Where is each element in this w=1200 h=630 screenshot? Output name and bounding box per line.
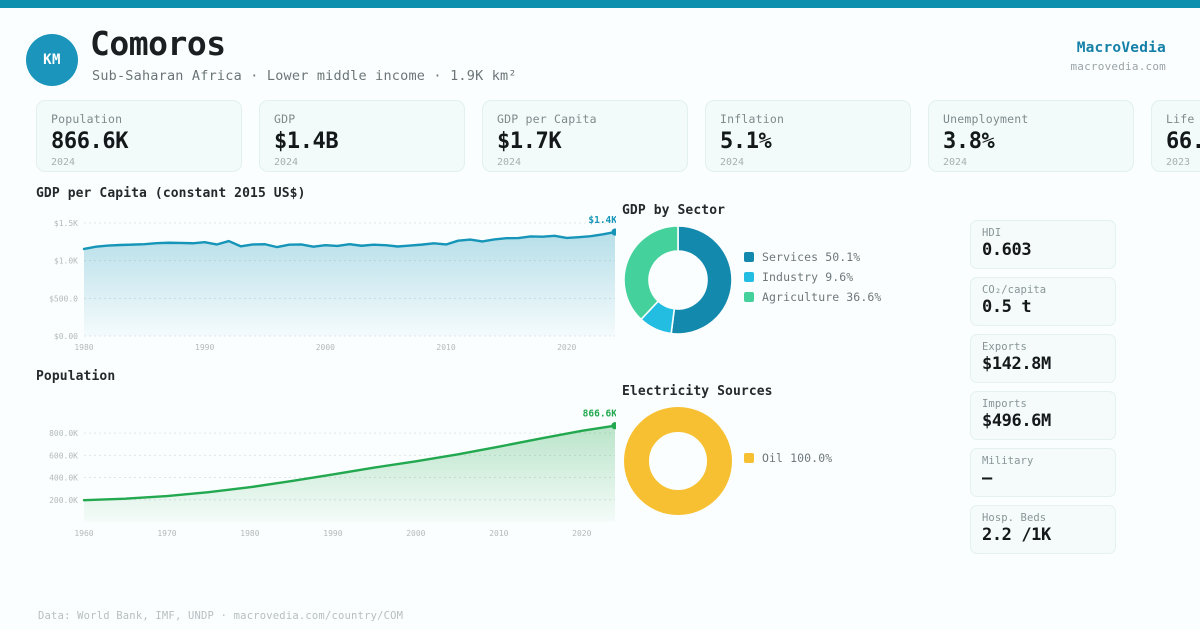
kpi-value: 5.1%: [720, 129, 896, 154]
brand[interactable]: MacroVedia macrovedia.com: [1070, 40, 1166, 73]
kpi-year: 2024: [720, 157, 896, 168]
population-chart-svg: 800.0K600.0K400.0K200.0K866.6K1960197019…: [36, 384, 616, 544]
population-chart-title: Population: [36, 369, 616, 384]
rail-card[interactable]: HDI0.603: [970, 220, 1116, 269]
rail-card[interactable]: Military—: [970, 448, 1116, 497]
svg-text:2010: 2010: [489, 529, 508, 538]
svg-text:1960: 1960: [74, 529, 93, 538]
rail-card[interactable]: Hosp. Beds2.2 /1K: [970, 505, 1116, 554]
kpi-label: GDP per Capita: [497, 112, 673, 126]
svg-text:$1.4K: $1.4K: [588, 215, 616, 226]
kpi-label: Life Expectancy: [1166, 112, 1200, 126]
legend-item[interactable]: Services 50.1%: [744, 250, 881, 264]
rail-label: Exports: [982, 341, 1104, 353]
rail-value: 0.5 t: [982, 297, 1104, 317]
population-chart: Population 800.0K600.0K400.0K200.0K866.6…: [36, 369, 616, 547]
rail-label: Military: [982, 455, 1104, 467]
kpi-year: 2024: [51, 157, 227, 168]
legend-swatch: [744, 453, 754, 463]
kpi-card[interactable]: GDP per Capita$1.7K2024: [482, 100, 688, 172]
brand-url: macrovedia.com: [1070, 60, 1166, 73]
svg-text:2000: 2000: [406, 529, 425, 538]
svg-text:2010: 2010: [436, 343, 455, 352]
sector-donut-svg: [622, 224, 734, 336]
indicator-rail: HDI0.603CO₂/capita0.5 tExports$142.8MImp…: [970, 220, 1116, 554]
svg-text:200.0K: 200.0K: [49, 496, 78, 505]
footer-source: Data: World Bank, IMF, UNDP · macrovedia…: [38, 610, 403, 622]
rail-card[interactable]: CO₂/capita0.5 t: [970, 277, 1116, 326]
legend-label: Services 50.1%: [762, 250, 860, 264]
kpi-year: 2024: [497, 157, 673, 168]
gdp-chart-title: GDP per Capita (constant 2015 US$): [36, 186, 616, 201]
legend-item[interactable]: Agriculture 36.6%: [744, 290, 881, 304]
electricity-donut-svg: [622, 405, 734, 517]
svg-text:866.6K: 866.6K: [583, 409, 616, 420]
kpi-value: $1.7K: [497, 129, 673, 154]
country-subtitle: Sub-Saharan Africa · Lower middle income…: [92, 68, 517, 84]
kpi-year: 2023: [1166, 157, 1200, 168]
country-dashboard: KM Comoros Sub-Saharan Africa · Lower mi…: [0, 0, 1200, 630]
rail-label: CO₂/capita: [982, 284, 1104, 296]
rail-value: 0.603: [982, 240, 1104, 260]
rail-card[interactable]: Imports$496.6M: [970, 391, 1116, 440]
svg-text:1980: 1980: [240, 529, 259, 538]
electricity-legend: Oil 100.0%: [744, 451, 832, 471]
kpi-value: 3.8%: [943, 129, 1119, 154]
kpi-year: 2024: [274, 157, 450, 168]
svg-text:$0.00: $0.00: [54, 332, 78, 341]
kpi-value: 866.6K: [51, 129, 227, 154]
electricity-chart-title: Electricity Sources: [622, 384, 952, 399]
svg-text:400.0K: 400.0K: [49, 474, 78, 483]
legend-item[interactable]: Oil 100.0%: [744, 451, 832, 465]
svg-text:1980: 1980: [74, 343, 93, 352]
legend-swatch: [744, 252, 754, 262]
rail-value: —: [982, 468, 1104, 488]
kpi-card[interactable]: Life Expectancy66.8 yrs2023: [1151, 100, 1200, 172]
electricity-sources-chart: Electricity Sources Oil 100.0%: [622, 384, 952, 539]
svg-text:$1.0K: $1.0K: [54, 257, 78, 266]
rail-card[interactable]: Exports$142.8M: [970, 334, 1116, 383]
country-avatar: KM: [26, 34, 78, 86]
brand-name: MacroVedia: [1070, 40, 1166, 56]
kpi-label: Inflation: [720, 112, 896, 126]
rail-label: HDI: [982, 227, 1104, 239]
legend-label: Industry 9.6%: [762, 270, 853, 284]
kpi-label: Unemployment: [943, 112, 1119, 126]
svg-text:2020: 2020: [557, 343, 576, 352]
page-header: KM Comoros Sub-Saharan Africa · Lower mi…: [0, 8, 1200, 90]
page-title: Comoros: [90, 24, 226, 63]
legend-swatch: [744, 272, 754, 282]
svg-text:$1.5K: $1.5K: [54, 219, 78, 228]
top-accent-bar: [0, 0, 1200, 8]
kpi-year: 2024: [943, 157, 1119, 168]
legend-label: Oil 100.0%: [762, 451, 832, 465]
svg-text:1990: 1990: [323, 529, 342, 538]
kpi-card[interactable]: Inflation5.1%2024: [705, 100, 911, 172]
sector-chart-title: GDP by Sector: [622, 203, 952, 218]
svg-text:800.0K: 800.0K: [49, 429, 78, 438]
kpi-card[interactable]: GDP$1.4B2024: [259, 100, 465, 172]
svg-text:600.0K: 600.0K: [49, 451, 78, 460]
legend-label: Agriculture 36.6%: [762, 290, 881, 304]
avatar-code: KM: [43, 52, 61, 68]
rail-label: Hosp. Beds: [982, 512, 1104, 524]
gdp-per-capita-chart: GDP per Capita (constant 2015 US$) $1.5K…: [36, 186, 616, 361]
gdp-chart-svg: $1.5K$1.0K$500.0$0.00$1.4K19801990200020…: [36, 201, 616, 356]
kpi-card[interactable]: Population866.6K2024: [36, 100, 242, 172]
kpi-label: GDP: [274, 112, 450, 126]
rail-value: $496.6M: [982, 411, 1104, 431]
svg-text:2020: 2020: [572, 529, 591, 538]
rail-label: Imports: [982, 398, 1104, 410]
kpi-row: Population866.6K2024GDP$1.4B2024GDP per …: [36, 100, 1200, 172]
svg-text:$500.0: $500.0: [49, 294, 78, 303]
rail-value: 2.2 /1K: [982, 525, 1104, 545]
legend-swatch: [744, 292, 754, 302]
kpi-value: $1.4B: [274, 129, 450, 154]
legend-item[interactable]: Industry 9.6%: [744, 270, 881, 284]
kpi-card[interactable]: Unemployment3.8%2024: [928, 100, 1134, 172]
kpi-value: 66.8 yrs: [1166, 129, 1200, 154]
kpi-label: Population: [51, 112, 227, 126]
svg-text:1970: 1970: [157, 529, 176, 538]
rail-value: $142.8M: [982, 354, 1104, 374]
gdp-by-sector-chart: GDP by Sector Services 50.1%Industry 9.6…: [622, 203, 952, 358]
svg-text:2000: 2000: [316, 343, 335, 352]
sector-legend: Services 50.1%Industry 9.6%Agriculture 3…: [744, 250, 881, 310]
svg-text:1990: 1990: [195, 343, 214, 352]
